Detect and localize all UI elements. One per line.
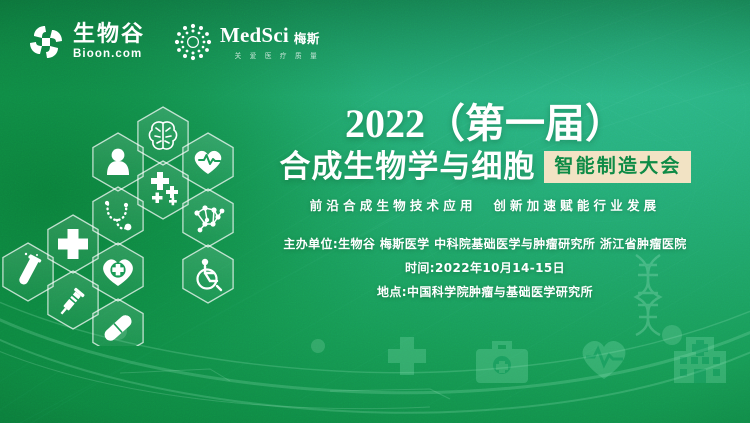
meta-organizers: 主办单位:生物谷 梅斯医学 中科院基础医学与肿瘤研究所 浙江省肿瘤医院 [250,238,720,250]
medsci-latin-name: MedSci [220,25,289,46]
meta-time: 时间:2022年10月14-15日 [250,262,720,274]
medsci-dot-circle-mark [174,23,212,61]
hexagon-icon-cluster [0,96,260,346]
logo-bar: 生物谷 Bioon.com [26,22,320,62]
medsci-logo[interactable]: MedSci 梅斯 关 爱 医 疗 质 量 [174,23,320,61]
bioon-pinwheel-mark [26,22,66,62]
title-main-row: 合成生物学与细胞 智能制造大会 [250,151,720,183]
meta-block: 主办单位:生物谷 梅斯医学 中科院基础医学与肿瘤研究所 浙江省肿瘤医院 时间:2… [250,238,720,298]
headline-block: 2022（第一届） 合成生物学与细胞 智能制造大会 前沿合成生物技术应用 创新加… [250,104,720,298]
medsci-cn-name: 梅斯 [294,32,320,46]
title-badge: 智能制造大会 [544,151,690,183]
conference-banner: 生物谷 Bioon.com [0,0,750,423]
medsci-tagline: 关 爱 医 疗 质 量 [220,50,320,60]
meta-location: 地点:中国科学院肿瘤与基础医学研究所 [250,286,720,298]
bioon-logo[interactable]: 生物谷 Bioon.com [26,22,145,62]
title-year-edition: 2022（第一届） [250,104,720,144]
title-main: 合成生物学与细胞 [279,152,535,183]
bioon-en-name: Bioon.com [73,49,145,61]
bioon-cn-name: 生物谷 [73,24,145,46]
headline-subtitle: 前沿合成生物技术应用 创新加速赋能行业发展 [250,195,720,214]
